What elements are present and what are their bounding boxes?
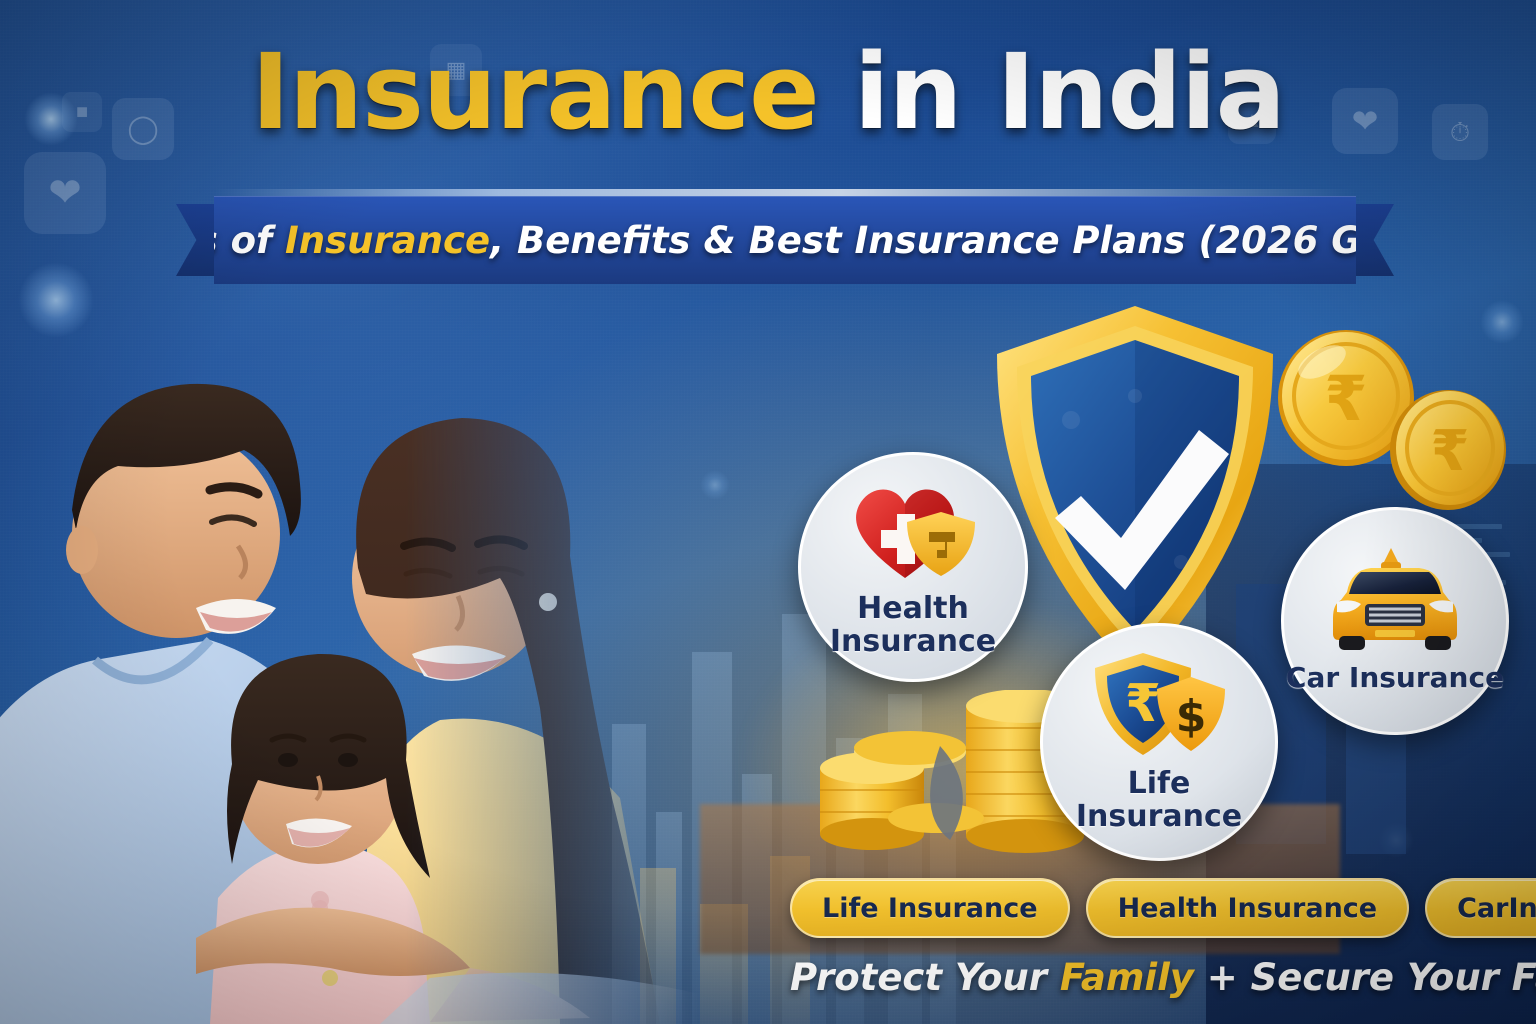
vignette-overlay	[0, 0, 1536, 1024]
insurance-banner: ❤ ◯ ■ ❤ ⏱ ▲ ▦	[0, 0, 1536, 1024]
